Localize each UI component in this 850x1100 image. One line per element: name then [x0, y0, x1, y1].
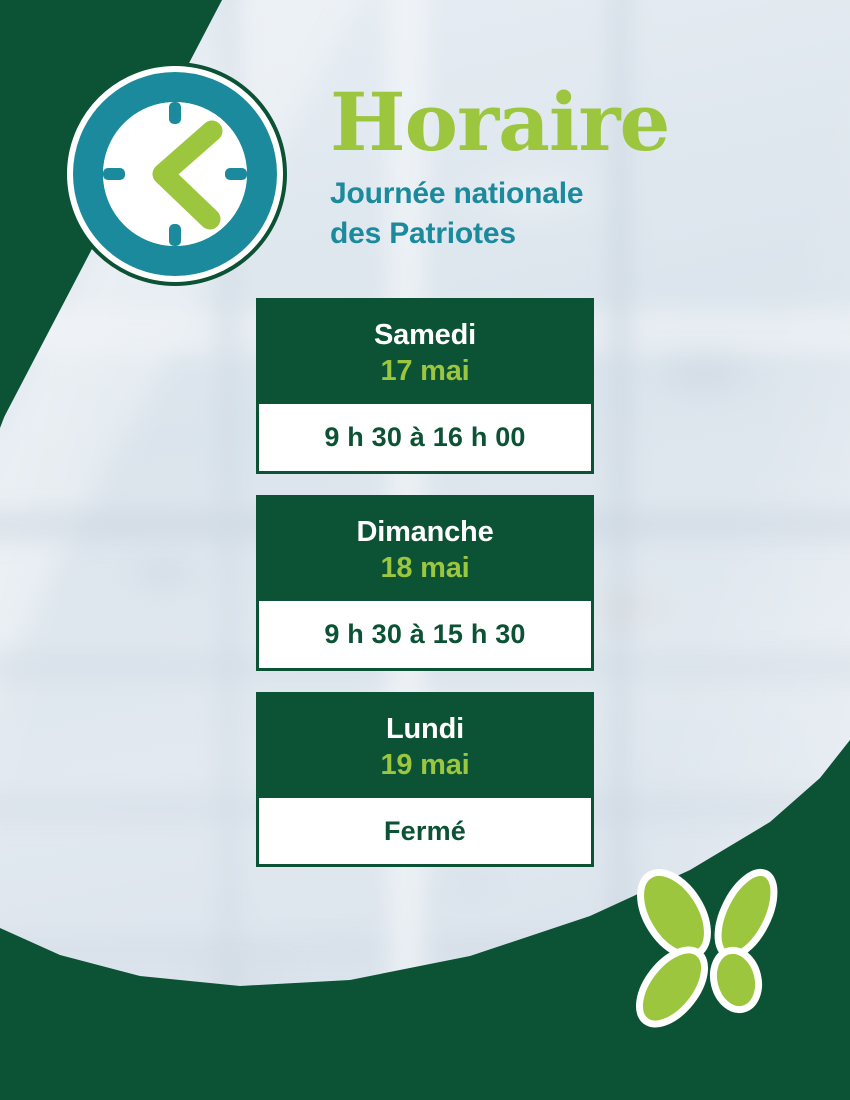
- schedule-card-header: Lundi 19 mai: [256, 692, 594, 798]
- schedule-hours-label: 9 h 30 à 15 h 30: [267, 618, 583, 650]
- schedule-hours-label: 9 h 30 à 16 h 00: [267, 421, 583, 453]
- schedule-day-label: Dimanche: [266, 515, 584, 549]
- subtitle-line-1: Journée nationale: [330, 174, 760, 214]
- butterfly-logo-icon: [618, 862, 803, 1047]
- schedule-list: Samedi 17 mai 9 h 30 à 16 h 00 Dimanche …: [256, 298, 594, 867]
- schedule-date-label: 19 mai: [266, 748, 584, 782]
- schedule-date-label: 18 mai: [266, 551, 584, 585]
- schedule-card-body: Fermé: [256, 798, 594, 867]
- schedule-card: Samedi 17 mai 9 h 30 à 16 h 00: [256, 298, 594, 474]
- schedule-card: Dimanche 18 mai 9 h 30 à 15 h 30: [256, 495, 594, 671]
- page-title: Horaire: [330, 84, 760, 160]
- schedule-card-header: Samedi 17 mai: [256, 298, 594, 404]
- schedule-card-header: Dimanche 18 mai: [256, 495, 594, 601]
- schedule-day-label: Lundi: [266, 712, 584, 746]
- clock-icon: [63, 62, 287, 286]
- horaire-poster: Horaire Journée nationale des Patriotes …: [0, 0, 850, 1100]
- schedule-card-body: 9 h 30 à 15 h 30: [256, 601, 594, 670]
- poster-header: Horaire Journée nationale des Patriotes: [330, 84, 760, 254]
- page-subtitle: Journée nationale des Patriotes: [330, 174, 760, 254]
- schedule-date-label: 17 mai: [266, 354, 584, 388]
- subtitle-line-2: des Patriotes: [330, 214, 760, 254]
- schedule-card: Lundi 19 mai Fermé: [256, 692, 594, 868]
- schedule-card-body: 9 h 30 à 16 h 00: [256, 404, 594, 473]
- schedule-day-label: Samedi: [266, 318, 584, 352]
- schedule-hours-label: Fermé: [267, 815, 583, 847]
